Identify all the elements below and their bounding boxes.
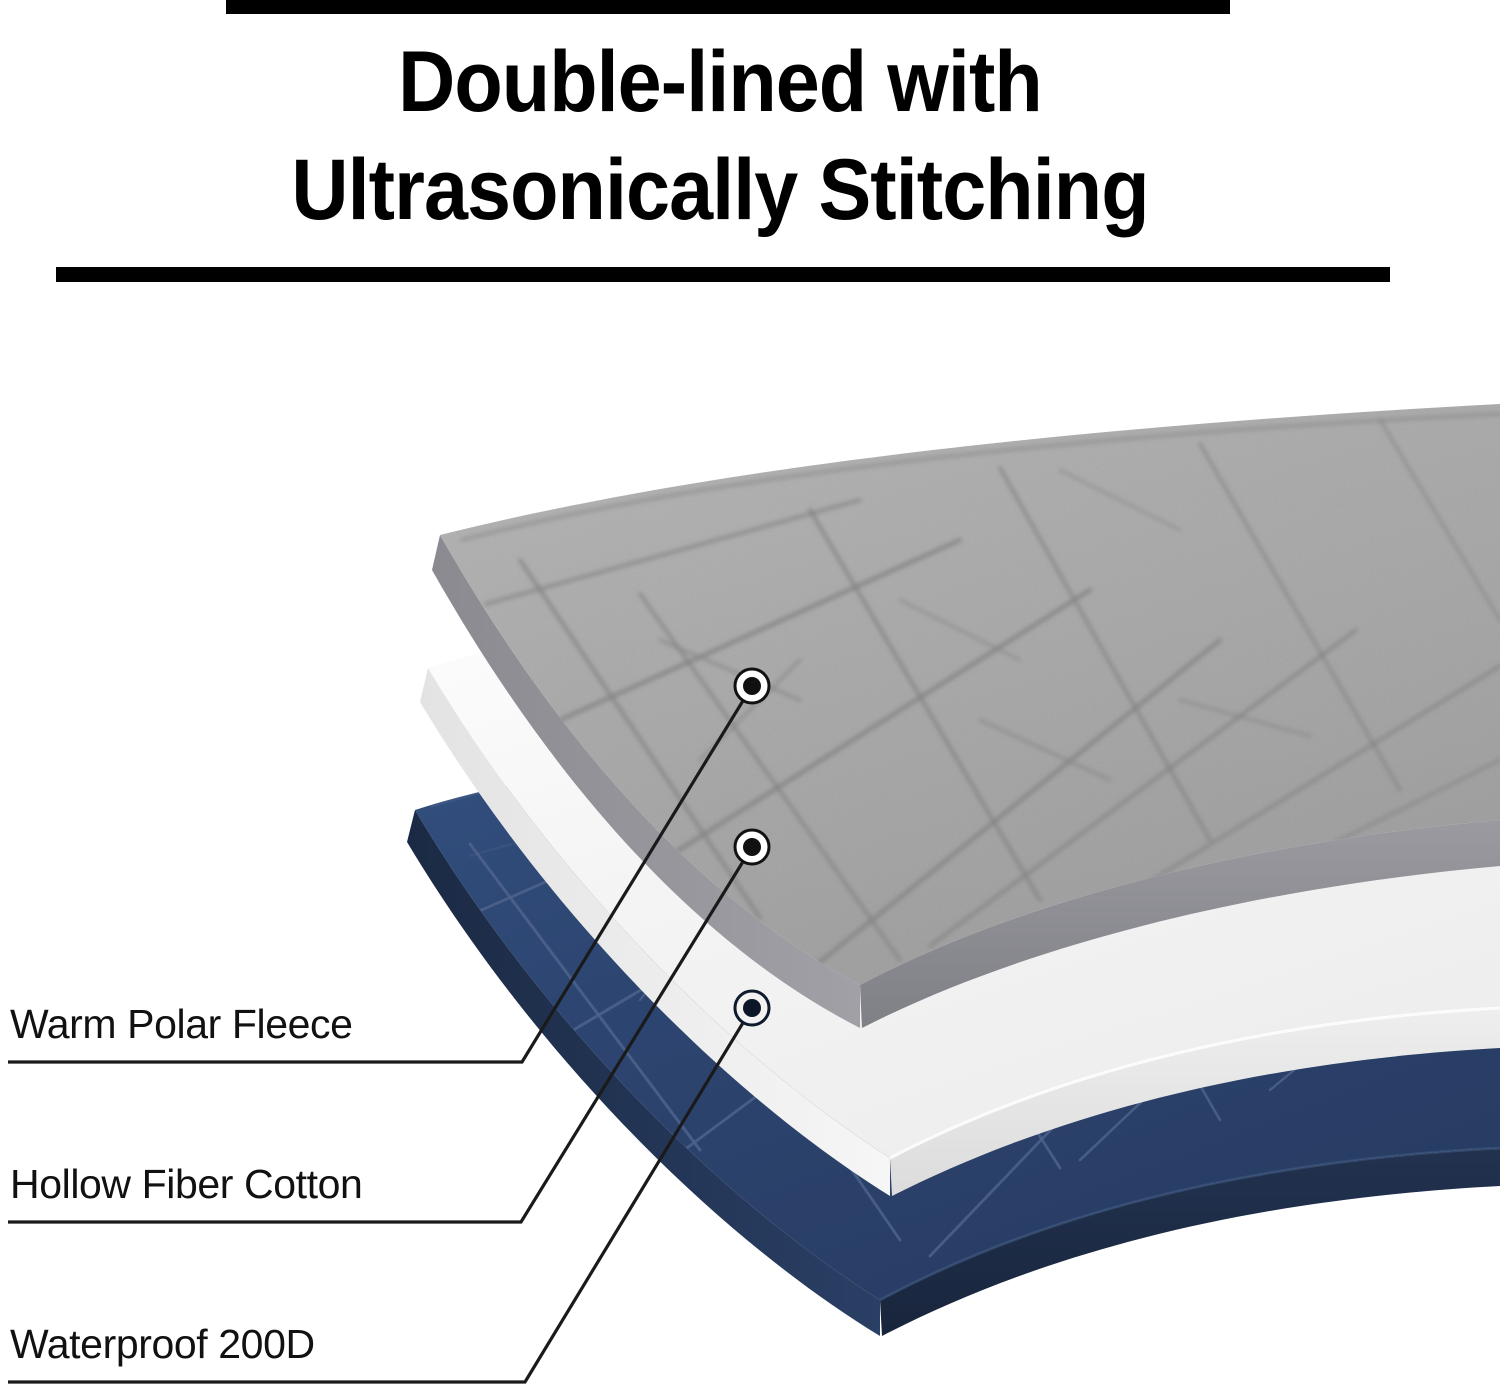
callout-label-warm-polar-fleece: Warm Polar Fleece [10, 1000, 353, 1048]
marker-waterproof-icon [735, 991, 769, 1025]
callout-label-hollow-fiber-cotton: Hollow Fiber Cotton [10, 1160, 362, 1208]
marker-fleece-icon [735, 669, 769, 703]
callout-label-waterproof-200d: Waterproof 200D [10, 1320, 315, 1368]
marker-cotton-icon [735, 830, 769, 864]
product-infographic: Double-lined with Ultrasonically Stitchi… [0, 0, 1500, 1387]
